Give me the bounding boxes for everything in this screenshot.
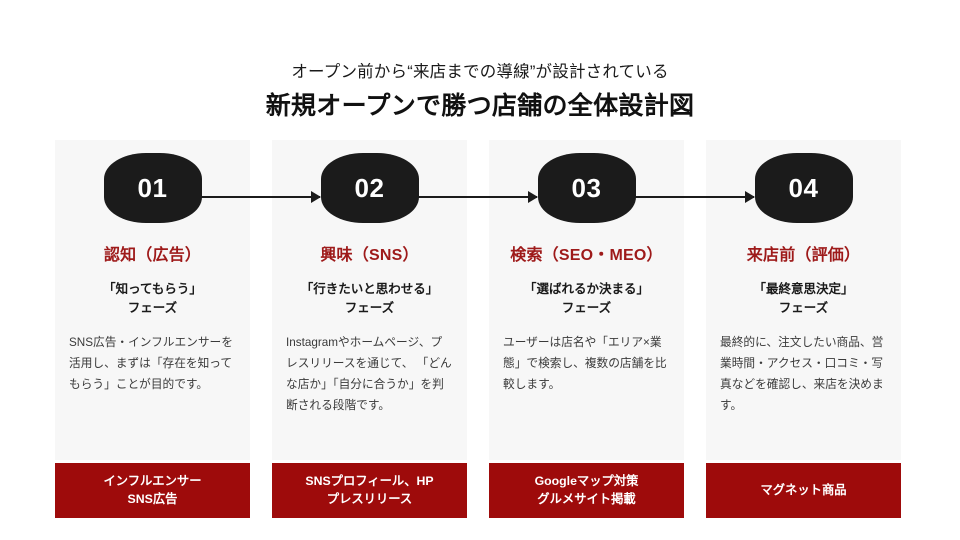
phase-label-2-line2: フェーズ xyxy=(278,299,461,318)
footer-bar-2: SNSプロフィール、HP プレスリリース xyxy=(272,463,467,518)
phase-label-1-line2: フェーズ xyxy=(61,299,244,318)
footer-bar-2-line2: プレスリリース xyxy=(327,491,412,509)
phase-badge-3: 03 xyxy=(538,153,636,223)
phase-columns: 01 認知（広告） 「知ってもらう」 フェーズ SNS広告・インフルエンサーを活… xyxy=(55,140,907,460)
page-title: 新規オープンで勝つ店舗の全体設計図 xyxy=(0,90,960,124)
phase-column-1: 01 認知（広告） 「知ってもらう」 フェーズ SNS広告・インフルエンサーを活… xyxy=(55,140,250,460)
phase-heading-3: 検索（SEO・MEO） xyxy=(489,246,684,267)
page-subtitle: オープン前から“来店までの導線”が設計されている xyxy=(0,62,960,83)
badge-wrap-3: 03 xyxy=(489,140,684,236)
phase-label-3: 「選ばれるか決まる」 フェーズ xyxy=(489,280,684,318)
phase-badge-4: 04 xyxy=(755,153,853,223)
badge-wrap-1: 01 xyxy=(55,140,250,236)
footer-bar-1: インフルエンサー SNS広告 xyxy=(55,463,250,518)
footer-bar-1-line1: インフルエンサー xyxy=(103,473,201,491)
badge-wrap-4: 04 xyxy=(706,140,901,236)
phase-label-4-line2: フェーズ xyxy=(712,299,895,318)
arrow-head-icon xyxy=(311,191,321,203)
footer-bar-4: マグネット商品 xyxy=(706,463,901,518)
footer-bar-3-line2: グルメサイト掲載 xyxy=(537,491,635,509)
phase-body-2: Instagramやホームページ、プレスリリースを通じて、 「どんな店か」「自分… xyxy=(272,333,467,416)
phase-label-3-line2: フェーズ xyxy=(495,299,678,318)
phase-column-3: 03 検索（SEO・MEO） 「選ばれるか決まる」 フェーズ ユーザーは店名や「… xyxy=(489,140,684,460)
phase-body-1: SNS広告・インフルエンサーを活用し、まずは「存在を知ってもらう」ことが目的です… xyxy=(55,333,250,395)
phase-column-2: 02 興味（SNS） 「行きたいと思わせる」 フェーズ Instagramやホー… xyxy=(272,140,467,460)
phase-body-3: ユーザーは店名や「エリア×業態」で検索し、複数の店舗を比較します。 xyxy=(489,333,684,395)
footer-bar-4-line1: マグネット商品 xyxy=(760,482,846,500)
phase-heading-1: 認知（広告） xyxy=(55,246,250,267)
phase-label-4: 「最終意思決定」 フェーズ xyxy=(706,280,901,318)
footer-bar-3-line1: Googleマップ対策 xyxy=(535,473,639,491)
phase-label-3-line1: 「選ばれるか決まる」 xyxy=(495,280,678,299)
phase-badge-2: 02 xyxy=(321,153,419,223)
phase-column-4: 04 来店前（評価） 「最終意思決定」 フェーズ 最終的に、注文したい商品、営業… xyxy=(706,140,901,460)
phase-label-4-line1: 「最終意思決定」 xyxy=(712,280,895,299)
phase-label-2-line1: 「行きたいと思わせる」 xyxy=(278,280,461,299)
phase-heading-4: 来店前（評価） xyxy=(706,246,901,267)
footer-bar-3: Googleマップ対策 グルメサイト掲載 xyxy=(489,463,684,518)
badge-wrap-2: 02 xyxy=(272,140,467,236)
phase-label-1-line1: 「知ってもらう」 xyxy=(61,280,244,299)
phase-body-4: 最終的に、注文したい商品、営業時間・アクセス・口コミ・写真などを確認し、来店を決… xyxy=(706,333,901,416)
footer-bar-1-line2: SNS広告 xyxy=(128,491,178,509)
footer-bar-2-line1: SNSプロフィール、HP xyxy=(305,473,433,491)
footer-bars: インフルエンサー SNS広告 SNSプロフィール、HP プレスリリース Goog… xyxy=(55,463,907,518)
phase-label-2: 「行きたいと思わせる」 フェーズ xyxy=(272,280,467,318)
phase-badge-1: 01 xyxy=(104,153,202,223)
phase-label-1: 「知ってもらう」 フェーズ xyxy=(55,280,250,318)
phase-heading-2: 興味（SNS） xyxy=(272,246,467,267)
arrow-head-icon xyxy=(528,191,538,203)
page-header: オープン前から“来店までの導線”が設計されている 新規オープンで勝つ店舗の全体設… xyxy=(0,62,960,124)
arrow-head-icon xyxy=(745,191,755,203)
